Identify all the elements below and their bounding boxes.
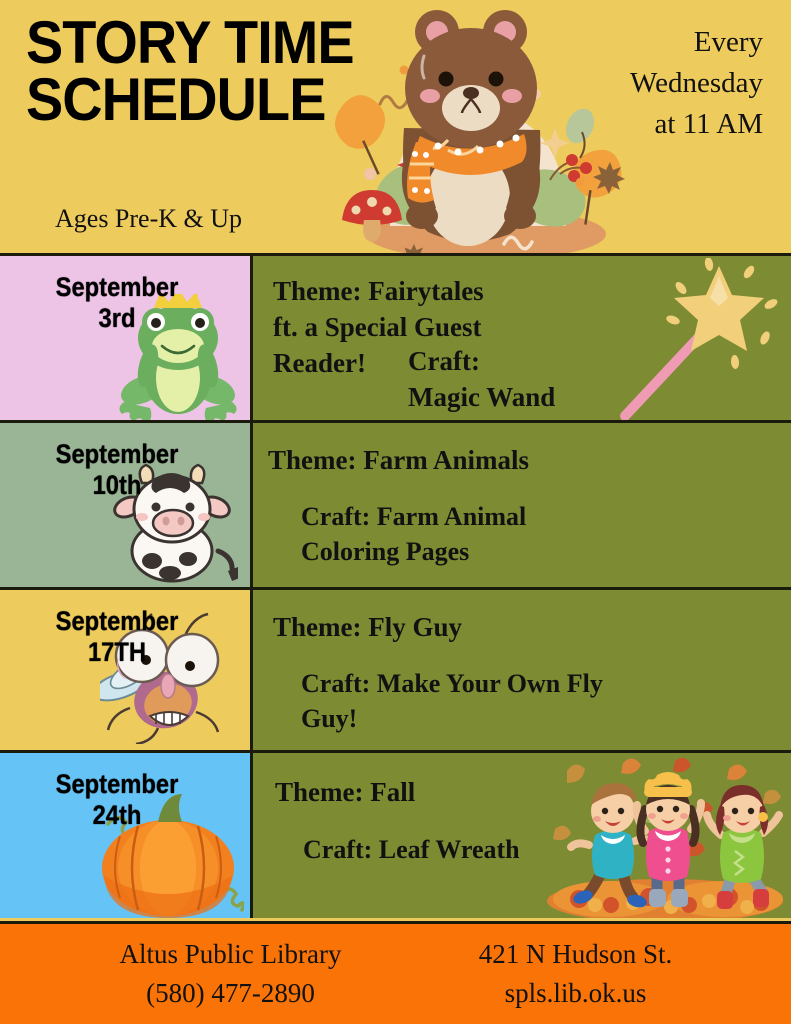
craft-label: Craft: Make Your Own Fly Guy!	[301, 666, 701, 736]
theme-label: Theme: Fall	[275, 777, 415, 808]
theme-label: Theme: Farm Animals	[268, 445, 529, 476]
page-title: STORY TIME SCHEDULE	[26, 14, 417, 128]
craft-label: Craft: Leaf Wreath	[303, 835, 520, 865]
theme-cell-4: Theme: Fall Craft: Leaf Wreath	[253, 753, 791, 918]
date-cell-2: September 10th	[0, 423, 253, 587]
theme-cell-1: Theme: Fairytales ft. a Special Guest Re…	[253, 256, 791, 420]
theme-cell-2: Theme: Farm Animals Craft: Farm Animal C…	[253, 423, 791, 587]
poster-footer: Altus Public Library (580) 477-2890 421 …	[0, 921, 791, 1024]
date-cell-1: September 3rd	[0, 256, 253, 420]
date-cell-3: September 17TH	[0, 590, 253, 750]
kids-playing-in-leaves-icon	[539, 753, 791, 918]
table-row: September 17TH	[0, 587, 791, 750]
library-name-and-phone: Altus Public Library (580) 477-2890	[51, 935, 411, 1013]
ages-subtitle: Ages Pre-K & Up	[55, 204, 242, 234]
theme-cell-3: Theme: Fly Guy Craft: Make Your Own Fly …	[253, 590, 791, 750]
table-row: September 24th	[0, 750, 791, 918]
schedule-time-note: Every Wednesday at 11 AM	[548, 22, 763, 146]
theme-label: Theme: Fly Guy	[273, 612, 462, 643]
poster-header: STORY TIME SCHEDULE Ages Pre-K & Up Ever…	[0, 0, 791, 253]
date-label: September 10th	[14, 439, 220, 501]
date-label: September 24th	[14, 769, 220, 831]
library-address-and-website: 421 N Hudson St. spls.lib.ok.us	[411, 935, 741, 1013]
story-time-schedule-poster: STORY TIME SCHEDULE Ages Pre-K & Up Ever…	[0, 0, 791, 1024]
table-row: September 10th	[0, 420, 791, 587]
craft-label: Craft: Farm Animal Coloring Pages	[301, 499, 631, 569]
schedule-table: September 3rd	[0, 253, 791, 921]
date-label: September 3rd	[14, 272, 220, 334]
date-label: September 17TH	[14, 606, 220, 668]
craft-label: Craft: Magic Wand	[408, 344, 708, 416]
table-row: September 3rd	[0, 253, 791, 420]
date-cell-4: September 24th	[0, 753, 253, 918]
